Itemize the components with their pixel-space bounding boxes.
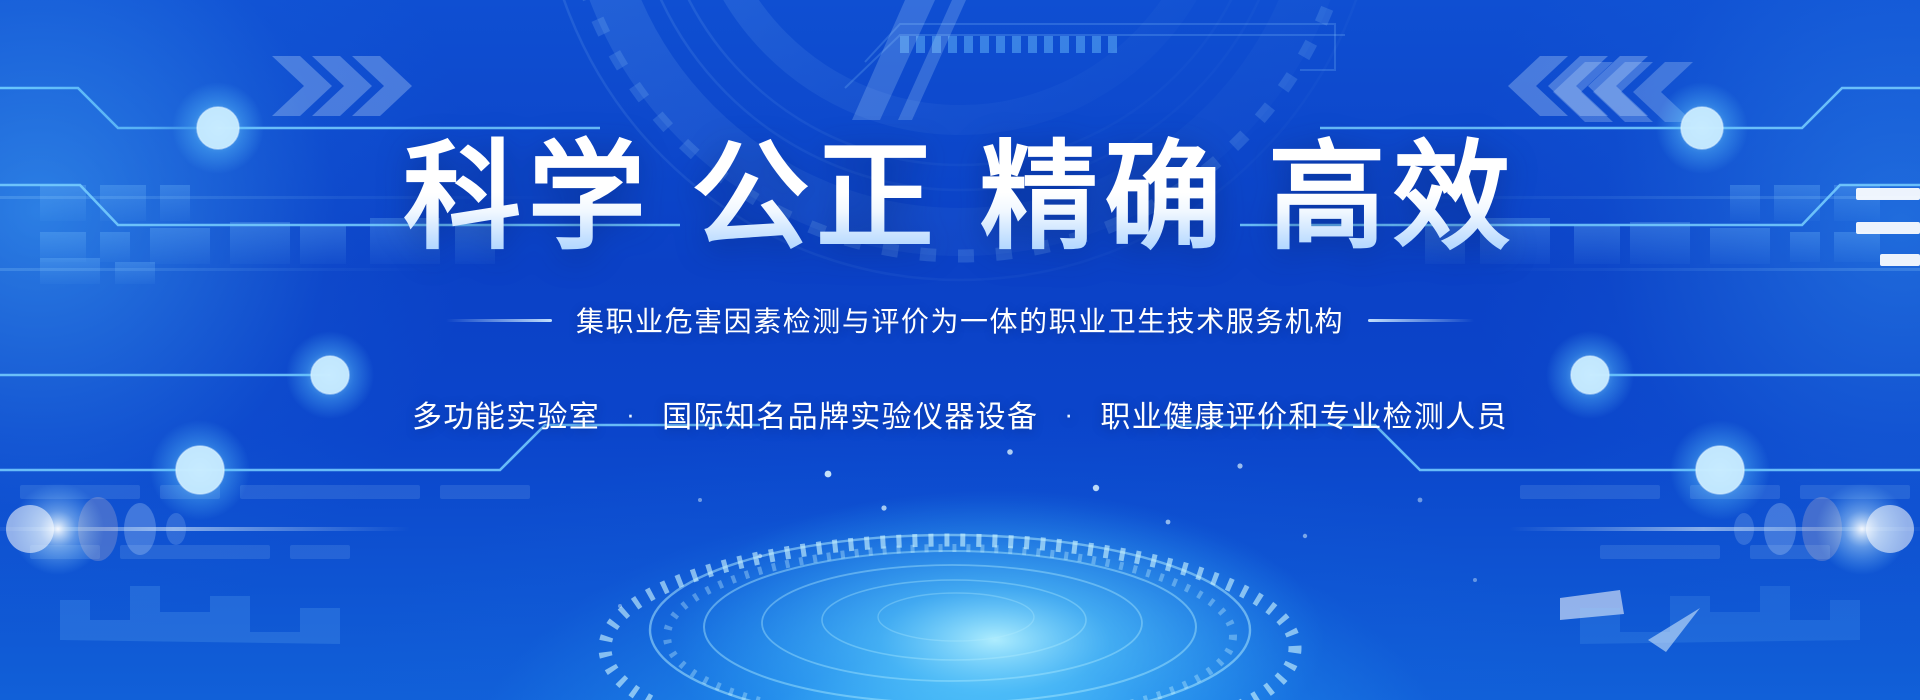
- tagline-row: 多功能实验室 · 国际知名品牌实验仪器设备 · 职业健康评价和专业检测人员: [412, 392, 1508, 436]
- tagline-item-3: 职业健康评价和专业检测人员: [1100, 392, 1508, 436]
- subtitle-row: 集职业危害因素检测与评价为一体的职业卫生技术服务机构: [446, 300, 1474, 340]
- banner-text-block: 科学 公正 精确 高效 集职业危害因素检测与评价为一体的职业卫生技术服务机构 多…: [0, 132, 1920, 436]
- tagline-separator-dot-icon: ·: [1038, 399, 1100, 430]
- hero-banner: 科学 公正 精确 高效 集职业危害因素检测与评价为一体的职业卫生技术服务机构 多…: [0, 0, 1920, 700]
- tagline-separator-dot-icon: ·: [600, 399, 662, 430]
- tagline-item-1: 多功能实验室: [412, 392, 600, 436]
- tagline-item-2: 国际知名品牌实验仪器设备: [662, 392, 1038, 436]
- subtitle-text: 集职业危害因素检测与评价为一体的职业卫生技术服务机构: [576, 300, 1344, 340]
- subtitle-rule-left-icon: [446, 319, 552, 322]
- subtitle-rule-right-icon: [1368, 319, 1474, 322]
- page-title: 科学 公正 精确 高效: [403, 132, 1517, 264]
